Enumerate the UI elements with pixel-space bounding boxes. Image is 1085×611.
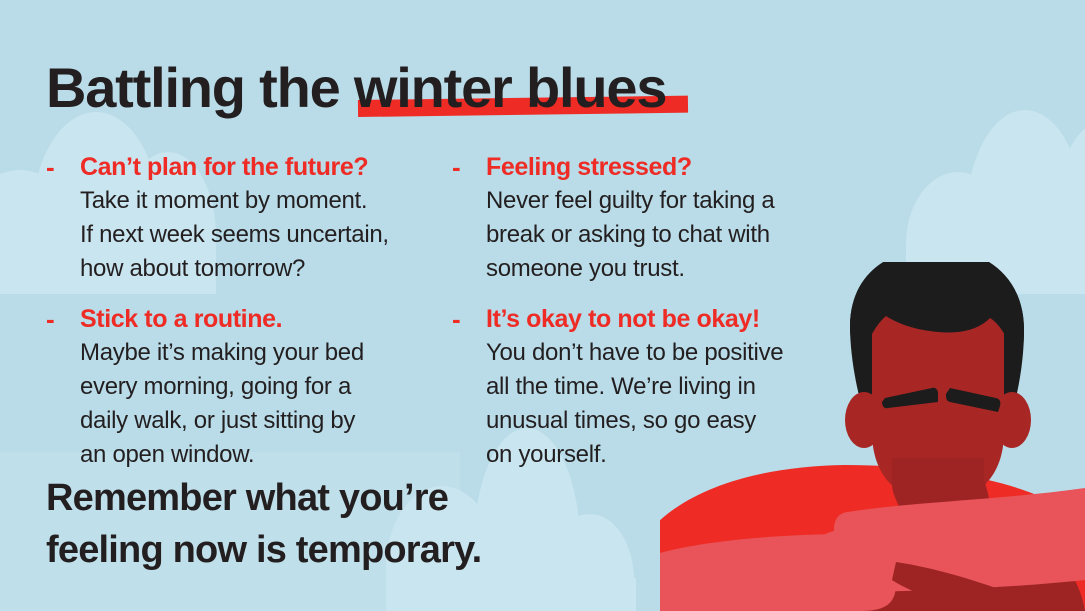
tip-body-line: If next week seems uncertain, bbox=[80, 218, 446, 252]
tip-body-line: break or asking to chat with bbox=[486, 218, 852, 252]
tip-heading: Feeling stressed? bbox=[486, 152, 852, 182]
tips-column-left: - Can’t plan for the future? Take it mom… bbox=[46, 152, 446, 490]
bullet-dash-icon: - bbox=[46, 304, 55, 334]
poster-canvas: Battling the winter blues - Can’t plan f… bbox=[0, 0, 1085, 611]
tip-heading: Stick to a routine. bbox=[80, 304, 446, 334]
tip-body-line: every morning, going for a bbox=[80, 370, 446, 404]
page-title: Battling the winter blues bbox=[46, 55, 666, 120]
tip-item: - Stick to a routine. Maybe it’s making … bbox=[46, 304, 446, 472]
bullet-dash-icon: - bbox=[452, 304, 461, 334]
bullet-dash-icon: - bbox=[46, 152, 55, 182]
tip-body-line: on yourself. bbox=[486, 438, 852, 472]
tip-item: - It’s okay to not be okay! You don’t ha… bbox=[452, 304, 852, 472]
tip-heading: Can’t plan for the future? bbox=[80, 152, 446, 182]
tip-body-line: how about tomorrow? bbox=[80, 252, 446, 286]
tip-body-line: Maybe it’s making your bed bbox=[80, 336, 446, 370]
tip-item: - Can’t plan for the future? Take it mom… bbox=[46, 152, 446, 286]
tip-body-line: daily walk, or just sitting by bbox=[80, 404, 446, 438]
tip-body-line: someone you trust. bbox=[486, 252, 852, 286]
tip-body-line: unusual times, so go easy bbox=[486, 404, 852, 438]
bullet-dash-icon: - bbox=[452, 152, 461, 182]
tip-body-line: You don’t have to be positive bbox=[486, 336, 852, 370]
tip-body: Never feel guilty for taking a break or … bbox=[486, 184, 852, 286]
tip-heading: It’s okay to not be okay! bbox=[486, 304, 852, 334]
footer-line: Remember what you’re bbox=[46, 472, 481, 524]
footer-line: feeling now is temporary. bbox=[46, 524, 481, 576]
tip-body-line: an open window. bbox=[80, 438, 446, 472]
tip-body: Maybe it’s making your bed every morning… bbox=[80, 336, 446, 472]
footer-message: Remember what you’re feeling now is temp… bbox=[46, 472, 481, 576]
tip-item: - Feeling stressed? Never feel guilty fo… bbox=[452, 152, 852, 286]
tip-body-line: Never feel guilty for taking a bbox=[486, 184, 852, 218]
tip-body-line: all the time. We’re living in bbox=[486, 370, 852, 404]
tip-body: Take it moment by moment. If next week s… bbox=[80, 184, 446, 286]
tips-column-right: - Feeling stressed? Never feel guilty fo… bbox=[452, 152, 852, 490]
tip-body: You don’t have to be positive all the ti… bbox=[486, 336, 852, 472]
tip-body-line: Take it moment by moment. bbox=[80, 184, 446, 218]
